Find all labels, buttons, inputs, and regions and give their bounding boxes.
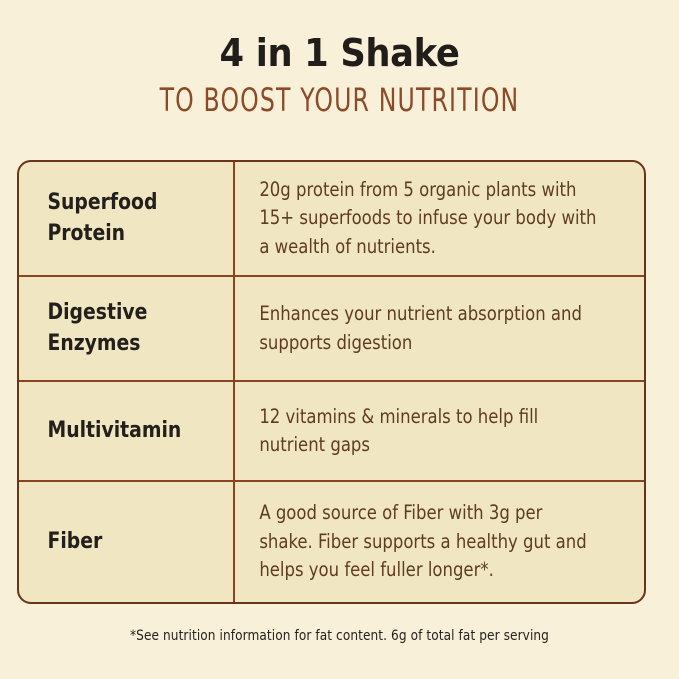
header: 4 in 1 Shake TO BOOST YOUR NUTRITION xyxy=(0,34,679,116)
benefit-label-line-2: Protein xyxy=(48,221,126,246)
benefit-label-line-1: Digestive xyxy=(48,300,148,325)
benefits-table-body: SuperfoodProtein 20g protein from 5 orga… xyxy=(19,162,644,602)
table-row: SuperfoodProtein 20g protein from 5 orga… xyxy=(19,162,644,275)
table-row: DigestiveEnzymes Enhances your nutrient … xyxy=(19,275,644,380)
footnote: *See nutrition information for fat conte… xyxy=(24,628,655,644)
benefit-description: 12 vitamins & minerals to help fill nutr… xyxy=(233,403,619,460)
page-title: 4 in 1 Shake xyxy=(24,34,655,72)
benefit-label: DigestiveEnzymes xyxy=(19,298,222,359)
benefit-description: 20g protein from 5 organic plants with 1… xyxy=(233,176,619,261)
infographic-page: 4 in 1 Shake TO BOOST YOUR NUTRITION Sup… xyxy=(0,0,679,679)
benefit-label: Multivitamin xyxy=(19,416,222,446)
page-subtitle: TO BOOST YOUR NUTRITION xyxy=(61,84,618,116)
benefit-description: A good source of Fiber with 3g per shake… xyxy=(233,499,619,584)
table-row: Multivitamin 12 vitamins & minerals to h… xyxy=(19,380,644,480)
benefit-description: Enhances your nutrient absorption and su… xyxy=(233,300,619,357)
benefit-label-line-2: Enzymes xyxy=(48,331,141,356)
benefit-label: Fiber xyxy=(19,527,222,557)
benefit-label-line-1: Superfood xyxy=(48,190,158,215)
benefits-table: SuperfoodProtein 20g protein from 5 orga… xyxy=(17,160,646,604)
benefit-label: SuperfoodProtein xyxy=(19,188,222,249)
table-row: Fiber A good source of Fiber with 3g per… xyxy=(19,480,644,602)
